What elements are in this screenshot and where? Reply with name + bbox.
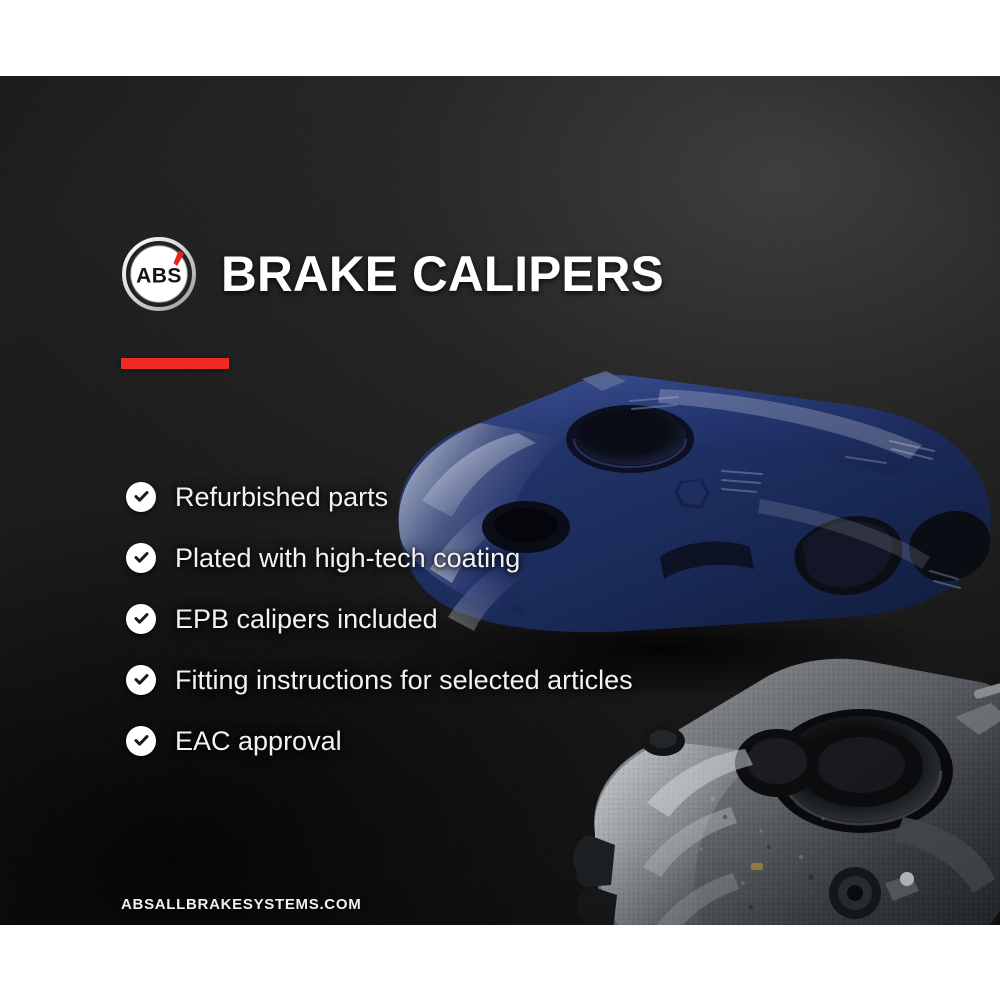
promo-banner: ABS BRAKE CALIPERS Refurbished parts	[0, 0, 1000, 1000]
list-item: EPB calipers included	[126, 588, 826, 649]
list-item: EAC approval	[126, 710, 826, 771]
accent-bar	[121, 358, 229, 369]
list-item-label: Fitting instructions for selected articl…	[175, 665, 633, 695]
check-circle-icon	[126, 604, 156, 634]
brand-header: ABS BRAKE CALIPERS	[121, 238, 668, 310]
check-circle-icon	[126, 482, 156, 512]
letterbox-top	[0, 0, 1000, 76]
site-url: ABSALLBRAKESYSTEMS.COM	[121, 896, 361, 914]
list-item: Refurbished parts	[126, 466, 826, 527]
list-item: Fitting instructions for selected articl…	[126, 649, 826, 710]
abs-circle-logo-icon: ABS	[121, 236, 197, 312]
check-circle-icon	[126, 665, 156, 695]
check-circle-icon	[126, 726, 156, 756]
list-item: Plated with high-tech coating	[126, 527, 826, 588]
list-item-label: Refurbished parts	[175, 482, 388, 512]
check-circle-icon	[126, 543, 156, 573]
abs-logo-text: ABS	[136, 265, 182, 288]
list-item-label: EPB calipers included	[175, 604, 438, 634]
letterbox-bottom	[0, 925, 1000, 1000]
list-item-label: Plated with high-tech coating	[175, 543, 520, 573]
product-panel: ABS BRAKE CALIPERS Refurbished parts	[0, 76, 1000, 925]
page-title: BRAKE CALIPERS	[221, 249, 664, 299]
list-item-label: EAC approval	[175, 726, 342, 756]
feature-list: Refurbished parts Plated with high-tech …	[126, 466, 826, 771]
